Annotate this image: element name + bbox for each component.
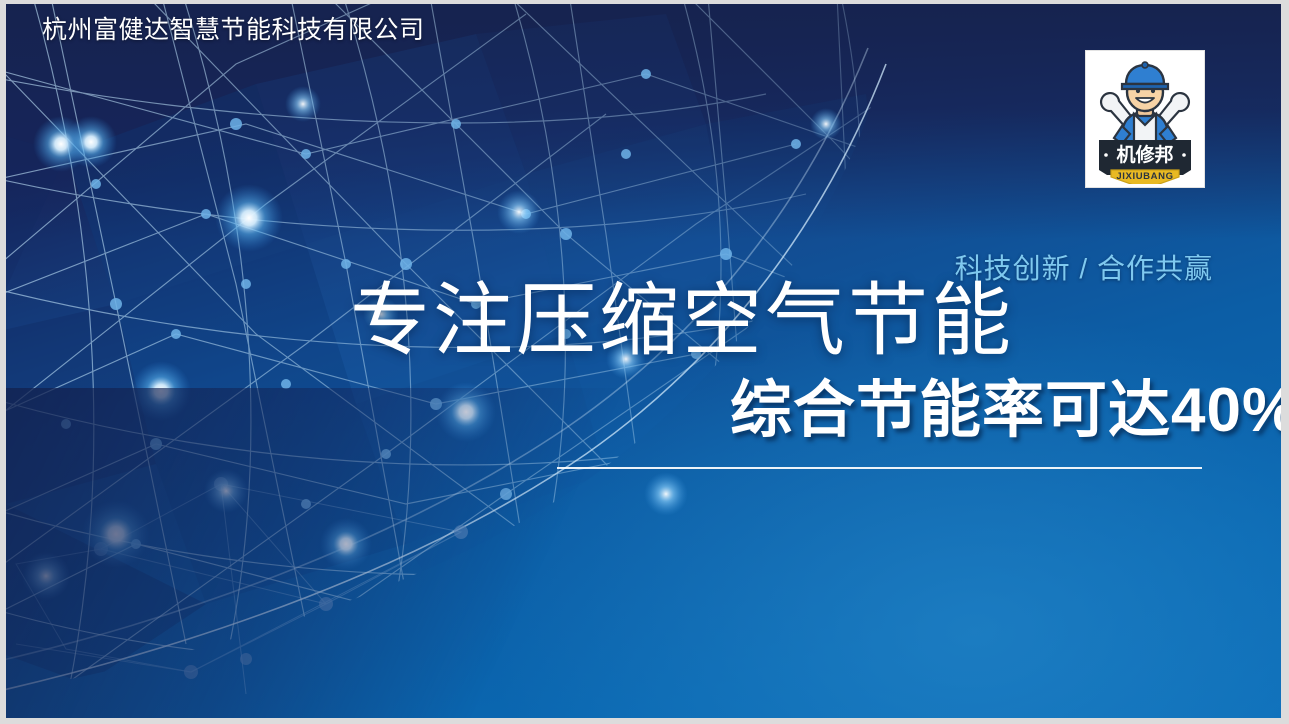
hero-banner: 杭州富健达智慧节能科技有限公司: [6, 4, 1281, 718]
logo-shield: JIXIUBANG: [1111, 170, 1179, 184]
company-name: 杭州富健达智慧节能科技有限公司: [42, 15, 425, 45]
mechanic-character-icon: 机修邦 JIXIUBANG: [1089, 54, 1201, 184]
hero-headline-line1: 专注压缩空气节能: [350, 282, 1014, 362]
hero-divider-rule: [557, 467, 1202, 469]
logo-brand-pinyin: JIXIUBANG: [1116, 171, 1173, 182]
brand-logo-card[interactable]: 机修邦 JIXIUBANG: [1085, 50, 1205, 188]
bottom-left-shade-overlay: [6, 388, 646, 718]
logo-brand-cn: 机修邦: [1116, 143, 1173, 166]
banner-screenshot: 杭州富健达智慧节能科技有限公司: [0, 0, 1289, 724]
hero-headline-line2: 综合节能率可达40%: [730, 380, 1281, 442]
